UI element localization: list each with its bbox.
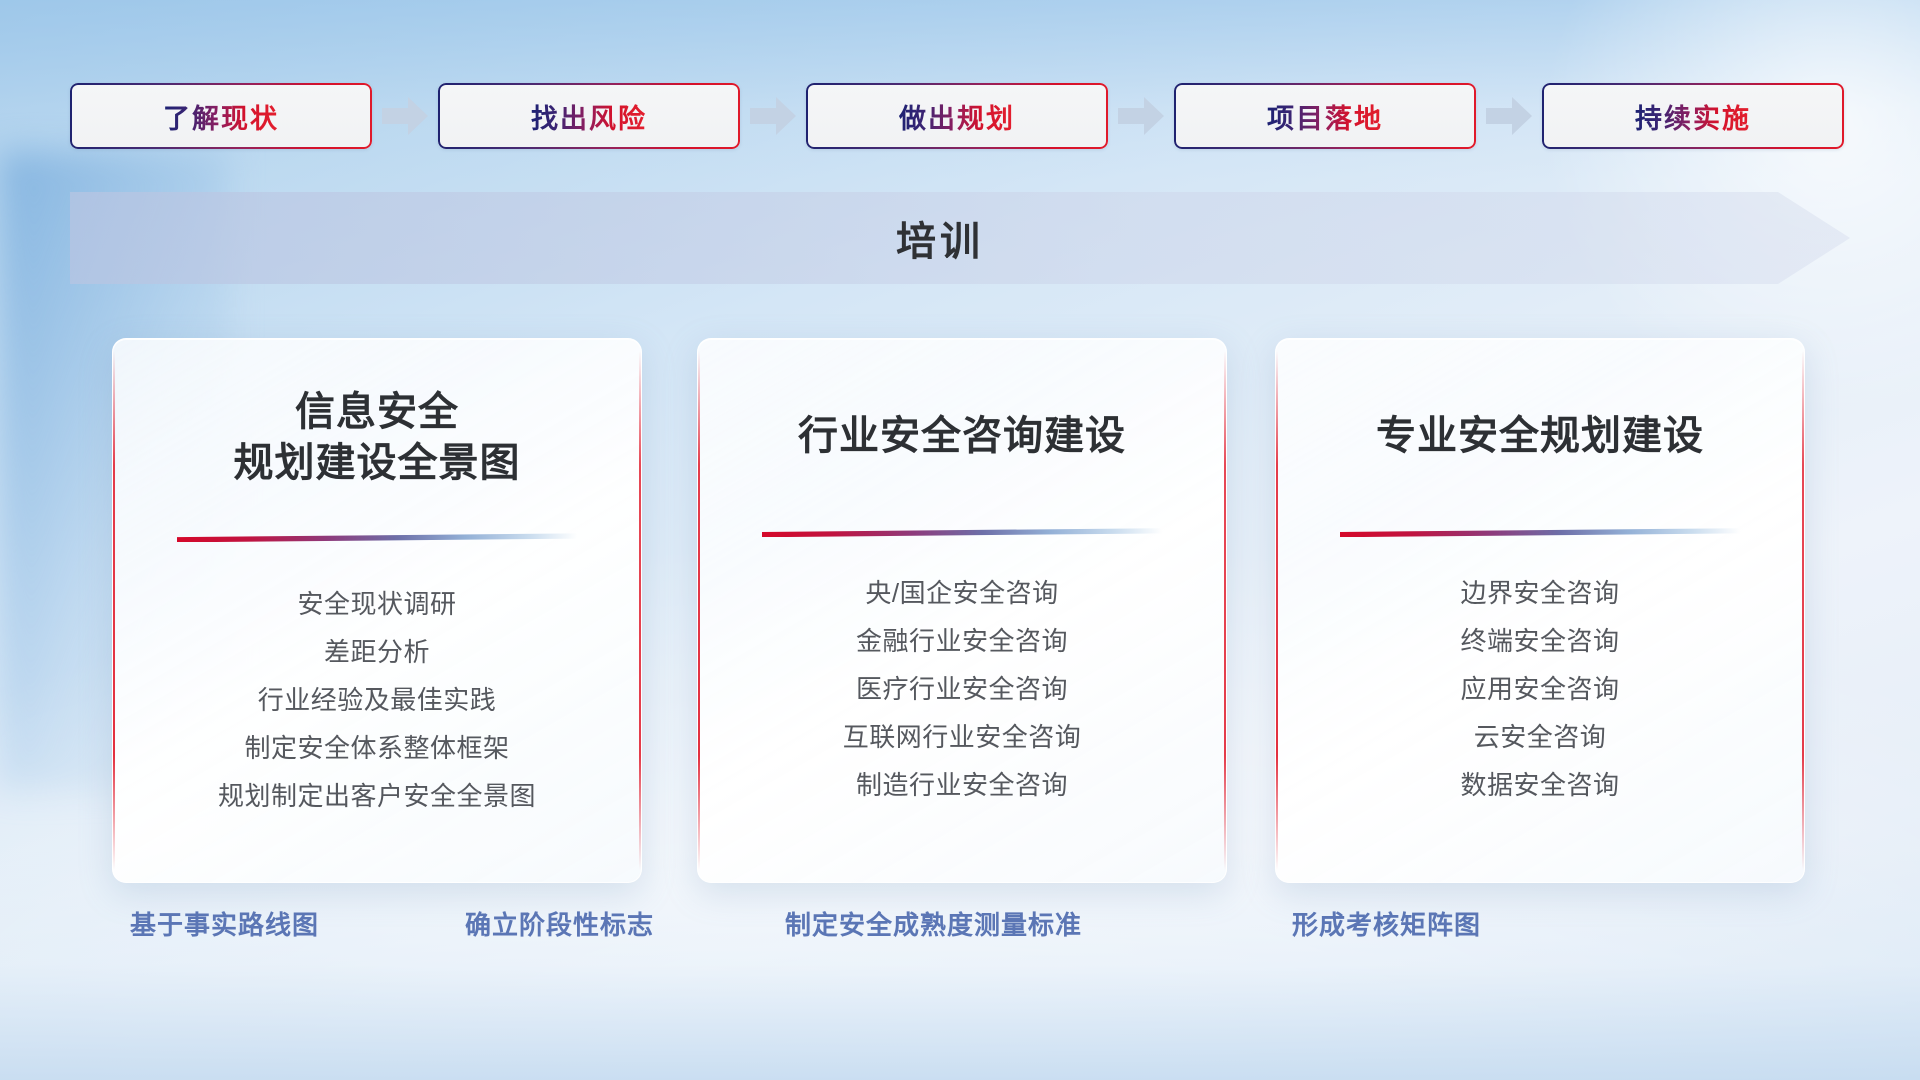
step-box-3[interactable]: 做出规划 [806,83,1108,149]
list-item: 差距分析 [113,628,641,676]
list-item: 医疗行业安全咨询 [698,665,1226,713]
step-separator-arrow-2 [740,97,806,135]
card-title-line-1: 专业安全规划建设 [1302,411,1778,462]
list-item: 终端安全咨询 [1276,617,1804,665]
card-edge-right [1224,351,1226,870]
card-title-line-1: 行业安全咨询建设 [724,411,1200,462]
step-separator-arrow-3 [1108,97,1174,135]
card-title: 行业安全咨询建设 [698,411,1226,462]
arrow-right-icon [1118,97,1164,135]
footnote-row: 基于事实路线图 确立阶段性标志 制定安全成熟度测量标准 形成考核矩阵图 [0,905,1920,965]
step-label-3: 做出规划 [899,97,1015,136]
footnote-2: 确立阶段性标志 [465,905,654,942]
list-item: 边界安全咨询 [1276,569,1804,617]
card-divider [177,533,577,542]
card-title: 专业安全规划建设 [1276,411,1804,462]
training-banner: 培训 [70,192,1850,284]
step-label-2: 找出风险 [531,97,647,136]
card-title-line-1: 信息安全 [139,387,615,438]
card-edge-right [1802,351,1804,870]
list-item: 制定安全体系整体框架 [113,724,641,772]
card-information-security-blueprint[interactable]: 信息安全 规划建设全景图 安全现状调研 差距分析 行业经验及最佳实践 制定安全体… [112,338,642,883]
list-item: 央/国企安全咨询 [698,569,1226,617]
card-divider [762,528,1162,537]
arrow-right-icon [382,97,428,135]
list-item: 安全现状调研 [113,580,641,628]
list-item: 互联网行业安全咨询 [698,713,1226,761]
list-item: 金融行业安全咨询 [698,617,1226,665]
card-group: 信息安全 规划建设全景图 安全现状调研 差距分析 行业经验及最佳实践 制定安全体… [0,330,1920,870]
arrow-right-icon [1486,97,1532,135]
card-title: 信息安全 规划建设全景图 [113,387,641,489]
process-step-row: 了解现状 找出风险 做出规划 项目落地 [70,80,1850,152]
step-box-5[interactable]: 持续实施 [1542,83,1844,149]
list-item: 行业经验及最佳实践 [113,676,641,724]
card-professional-security-planning[interactable]: 专业安全规划建设 边界安全咨询 终端安全咨询 应用安全咨询 云安全咨询 数据安全… [1275,338,1805,883]
footnote-1: 基于事实路线图 [130,905,319,942]
card-item-list: 边界安全咨询 终端安全咨询 应用安全咨询 云安全咨询 数据安全咨询 [1276,569,1804,809]
card-title-line-2: 规划建设全景图 [139,438,615,489]
list-item: 数据安全咨询 [1276,761,1804,809]
list-item: 规划制定出客户安全全景图 [113,772,641,820]
step-box-1[interactable]: 了解现状 [70,83,372,149]
slide-stage: 了解现状 找出风险 做出规划 项目落地 [0,0,1920,1080]
step-separator-arrow-4 [1476,97,1542,135]
training-banner-label: 培训 [70,192,1850,284]
card-industry-security-consulting[interactable]: 行业安全咨询建设 央/国企安全咨询 金融行业安全咨询 医疗行业安全咨询 互联网行… [697,338,1227,883]
card-item-list: 央/国企安全咨询 金融行业安全咨询 医疗行业安全咨询 互联网行业安全咨询 制造行… [698,569,1226,809]
list-item: 应用安全咨询 [1276,665,1804,713]
step-label-4: 项目落地 [1267,97,1383,136]
list-item: 制造行业安全咨询 [698,761,1226,809]
footnote-4: 形成考核矩阵图 [1292,905,1481,942]
card-item-list: 安全现状调研 差距分析 行业经验及最佳实践 制定安全体系整体框架 规划制定出客户… [113,580,641,820]
arrow-right-icon [750,97,796,135]
list-item: 云安全咨询 [1276,713,1804,761]
footnote-3: 制定安全成熟度测量标准 [785,905,1082,942]
step-label-1: 了解现状 [163,97,279,136]
step-box-4[interactable]: 项目落地 [1174,83,1476,149]
step-label-5: 持续实施 [1635,97,1751,136]
step-box-2[interactable]: 找出风险 [438,83,740,149]
step-separator-arrow-1 [372,97,438,135]
card-divider [1340,528,1740,537]
card-edge-right [639,351,641,870]
